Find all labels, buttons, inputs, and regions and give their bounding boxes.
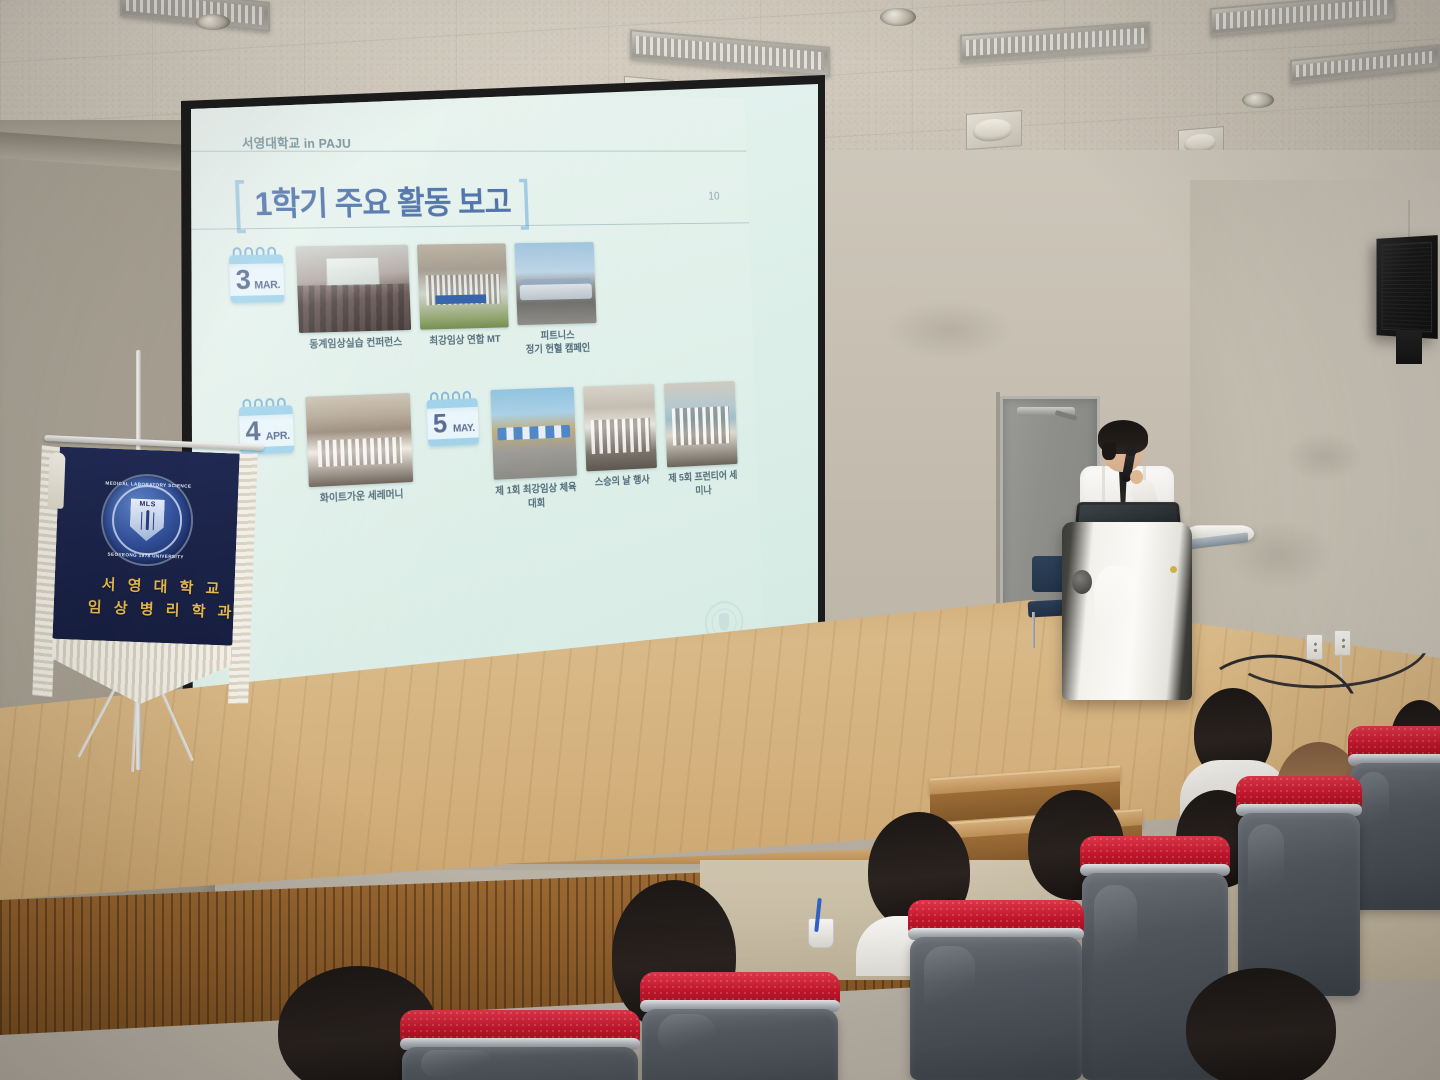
pennant-text-block: 서 영 대 학 교 임 상 병 리 학 과 <box>71 573 253 625</box>
speaker-bracket <box>1396 330 1422 364</box>
auditorium-seat[interactable] <box>400 1010 640 1080</box>
photo-sports-day-outdoor <box>491 387 577 480</box>
activity-caption: 스승의 날 행사 <box>595 473 650 489</box>
shield-mls-text: MLS <box>139 501 156 509</box>
activity-row-march: 3 MAR. 동계임상실습 컨퍼런스 최강임상 연합 MT <box>227 240 735 366</box>
auditorium-seat[interactable] <box>1236 776 1362 996</box>
activity-item: 화이트가운 세레머니 <box>305 393 414 506</box>
ceiling-downlight <box>1242 92 1274 108</box>
department-pennant: MEDICAL LABORATORY SCIENCE SEOYEONG 1978… <box>30 446 256 754</box>
photo-conference-auditorium <box>296 245 411 333</box>
podium-body <box>1062 522 1192 700</box>
projection-screen: 서영대학교 in PAJU 10 [ 1학기 주요 활동 보고 ] <box>175 75 825 725</box>
pennant-tassel <box>47 452 65 509</box>
activity-caption: 화이트가운 세레머니 <box>320 488 404 506</box>
podium-indicator-light <box>1170 566 1177 573</box>
presenter-hair <box>1098 420 1148 454</box>
slide-page-number: 10 <box>708 189 720 202</box>
calendar-icon-march: 3 MAR. <box>227 246 289 305</box>
activity-item: 최강임상 연합 MT <box>417 243 509 348</box>
podium-knob[interactable] <box>1072 570 1092 594</box>
mls-emblem-icon: MEDICAL LABORATORY SCIENCE SEOYEONG 1978… <box>101 474 192 565</box>
photo-frontier-seminar <box>664 381 738 467</box>
ceiling-downlight <box>196 14 230 30</box>
lecture-hall-scene: 서영대학교 in PAJU 10 [ 1학기 주요 활동 보고 ] <box>0 0 1440 1080</box>
seat-backrest <box>642 1009 838 1080</box>
calendar-month: APR. <box>266 430 290 443</box>
drink-cup[interactable] <box>808 918 834 948</box>
auditorium-seat[interactable] <box>640 972 840 1080</box>
bracket-right-icon: ] <box>518 172 531 227</box>
activity-caption: 제 5회 프런티어 세미나 <box>666 469 741 499</box>
activity-item: 동계임상실습 컨퍼런스 <box>296 245 412 352</box>
pennant-bottom-fringe <box>50 639 232 708</box>
activity-caption: 피트니스 정기 헌혈 캠페인 <box>525 328 590 357</box>
photo-white-gown-ceremony <box>305 393 413 487</box>
screen-surface: 서영대학교 in PAJU 10 [ 1학기 주요 활동 보고 ] <box>175 75 825 725</box>
calendar-day: 5 <box>432 410 447 438</box>
photo-teachers-day-event <box>583 384 657 471</box>
photo-group-outdoor-mt <box>417 243 509 329</box>
seat-backrest <box>910 937 1082 1080</box>
loudspeaker-icon <box>1377 235 1438 339</box>
audience-head <box>1186 968 1336 1080</box>
activity-item: 제 5회 프런티어 세미나 <box>663 381 741 498</box>
calendar-month: MAY. <box>453 423 475 435</box>
podium[interactable] <box>1062 500 1240 700</box>
activity-caption: 동계임상실습 컨퍼런스 <box>309 335 402 352</box>
banner-stand: MEDICAL LABORATORY SCIENCE SEOYEONG 1978… <box>78 340 248 810</box>
ceiling-downlight <box>880 8 916 26</box>
slide-title: 1학기 주요 활동 보고 <box>254 176 512 225</box>
activity-item: 피트니스 정기 헌혈 캠페인 <box>514 242 597 357</box>
seat-backrest <box>1350 763 1440 910</box>
seat-backrest <box>402 1047 638 1080</box>
calendar-day: 3 <box>235 266 251 294</box>
slide-title-row: [ 1학기 주요 활동 보고 ] <box>232 176 731 226</box>
calendar-month: MAR. <box>254 279 280 291</box>
calendar-body: 5 MAY. <box>427 398 479 446</box>
activity-item: 스승의 날 행사 <box>583 384 657 489</box>
activity-item: 제 1회 최강임상 체육대회 <box>490 387 580 512</box>
activity-caption: 최강임상 연합 MT <box>429 332 501 348</box>
presenter-hand <box>1130 470 1143 484</box>
slide-divider-top <box>180 151 746 152</box>
auditorium-seat[interactable] <box>908 900 1084 1080</box>
chair-leg <box>1032 612 1035 648</box>
bracket-left-icon: [ <box>232 173 247 230</box>
activity-caption: 제 1회 최강임상 체육대회 <box>493 481 579 512</box>
calendar-icon-may: 5 MAY. <box>424 391 482 449</box>
activity-row-april-may: 4 APR. 화이트가운 세레머니 5 MAY. <box>237 381 741 526</box>
door-closer <box>1017 407 1075 416</box>
photo-blood-donation-bus <box>514 242 596 325</box>
wall-smudge <box>884 300 1014 360</box>
slide-header-text: 서영대학교 in PAJU <box>242 133 728 152</box>
caduceus-icon <box>145 510 149 530</box>
calendar-body: 3 MAR. <box>229 254 285 303</box>
emblem-bottom-text: SEOYEONG 1978 UNIVERSITY <box>102 551 190 559</box>
speaker-grille <box>1382 242 1432 333</box>
wall-smudge <box>1284 432 1364 482</box>
ceiling-air-vent <box>966 110 1022 150</box>
